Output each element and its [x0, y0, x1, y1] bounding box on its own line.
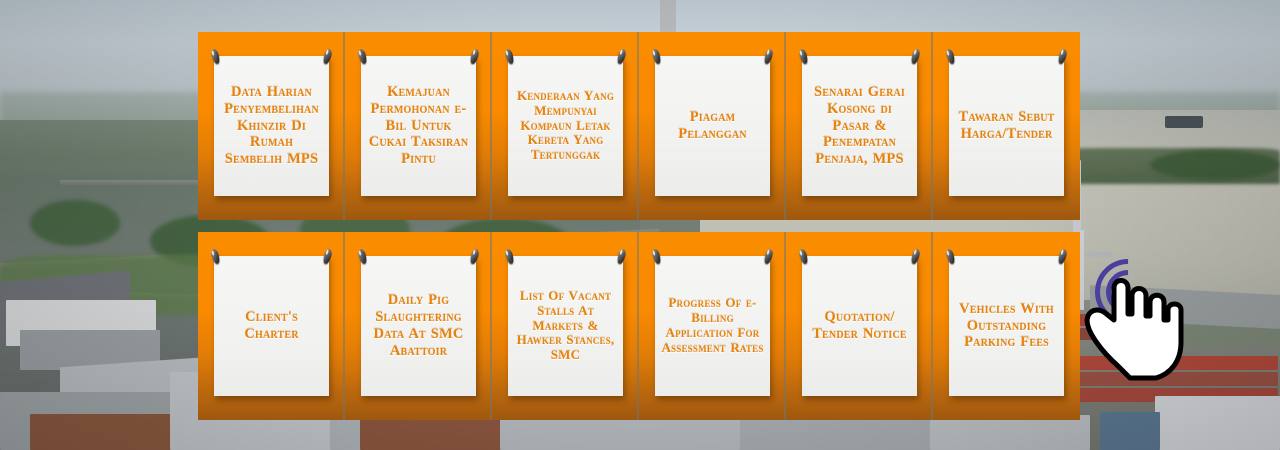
- building: [740, 420, 940, 450]
- pin-icon: [910, 48, 921, 64]
- tile-sheet: List Of Vacant Stalls At Markets & Hawke…: [508, 256, 623, 396]
- tile-progress-of-ebilling-application[interactable]: Progress Of e-Billing Application For As…: [639, 232, 786, 420]
- pin-icon: [322, 248, 333, 264]
- pin-icon: [504, 248, 515, 264]
- pin-icon: [210, 48, 221, 64]
- tree-cluster: [30, 200, 120, 246]
- tile-label: Tawaran Sebut Harga/Tender: [954, 109, 1059, 143]
- tile-row-2: Client's Charter Daily Pig Slaughtering …: [198, 232, 1080, 420]
- tile-label: Kemajuan Permohonan e-Bil Untuk Cukai Ta…: [366, 84, 471, 169]
- tile-data-harian-penyembelihan[interactable]: Data Harian Penyembelihan Khinzir Di Rum…: [198, 32, 345, 220]
- pin-icon: [469, 248, 480, 264]
- tile-sheet: Quotation/ Tender Notice: [802, 256, 917, 396]
- container-stack: [1080, 328, 1150, 340]
- tile-sheet: Data Harian Penyembelihan Khinzir Di Rum…: [214, 56, 329, 196]
- tile-sheet: Client's Charter: [214, 256, 329, 396]
- tile-daily-pig-slaughtering-data[interactable]: Daily Pig Slaughtering Data At SMC Abatt…: [345, 232, 492, 420]
- pin-icon: [357, 48, 368, 64]
- tile-vehicles-outstanding-parking-fees[interactable]: Vehicles With Outstanding Parking Fees: [933, 232, 1080, 420]
- tile-sheet: Daily Pig Slaughtering Data At SMC Abatt…: [361, 256, 476, 396]
- tile-sheet: Tawaran Sebut Harga/Tender: [949, 56, 1064, 196]
- pin-icon: [469, 48, 480, 64]
- pin-icon: [616, 248, 627, 264]
- building-roof: [30, 414, 180, 450]
- tile-tawaran-sebut-harga-tender[interactable]: Tawaran Sebut Harga/Tender: [933, 32, 1080, 220]
- tile-senarai-gerai-kosong[interactable]: Senarai Gerai Kosong di Pasar & Penempat…: [786, 32, 933, 220]
- tile-clients-charter[interactable]: Client's Charter: [198, 232, 345, 420]
- tile-label: Vehicles With Outstanding Parking Fees: [954, 301, 1059, 352]
- pin-icon: [322, 48, 333, 64]
- tile-quotation-tender-notice[interactable]: Quotation/ Tender Notice: [786, 232, 933, 420]
- tile-kemajuan-permohonan-ebil[interactable]: Kemajuan Permohonan e-Bil Untuk Cukai Ta…: [345, 32, 492, 220]
- pin-icon: [798, 248, 809, 264]
- pin-icon: [504, 48, 515, 64]
- tile-sheet: Progress Of e-Billing Application For As…: [655, 256, 770, 396]
- tile-label: List Of Vacant Stalls At Markets & Hawke…: [513, 289, 618, 363]
- tile-list-of-vacant-stalls[interactable]: List Of Vacant Stalls At Markets & Hawke…: [492, 232, 639, 420]
- container-stack: [1078, 356, 1278, 370]
- tile-label: Client's Charter: [219, 309, 324, 343]
- pin-icon: [651, 48, 662, 64]
- pin-icon: [798, 48, 809, 64]
- pin-icon: [763, 48, 774, 64]
- port-building: [1100, 412, 1160, 450]
- tile-grid: Data Harian Penyembelihan Khinzir Di Rum…: [198, 32, 1080, 420]
- tile-label: Quotation/ Tender Notice: [807, 309, 912, 343]
- pin-icon: [763, 248, 774, 264]
- barge: [1165, 116, 1203, 128]
- tile-sheet: Kemajuan Permohonan e-Bil Untuk Cukai Ta…: [361, 56, 476, 196]
- tile-label: Kenderaan Yang Mempunyai Kompaun Letak K…: [513, 89, 618, 163]
- pin-icon: [357, 248, 368, 264]
- tile-sheet: Senarai Gerai Kosong di Pasar & Penempat…: [802, 56, 917, 196]
- pin-icon: [1057, 248, 1068, 264]
- port-crane: [1085, 252, 1113, 257]
- tile-label: Data Harian Penyembelihan Khinzir Di Rum…: [219, 84, 324, 169]
- tile-kenderaan-kompaun-letak-kereta[interactable]: Kenderaan Yang Mempunyai Kompaun Letak K…: [492, 32, 639, 220]
- pin-icon: [1057, 48, 1068, 64]
- pin-icon: [945, 48, 956, 64]
- tile-row-1: Data Harian Penyembelihan Khinzir Di Rum…: [198, 32, 1080, 220]
- container-stack: [1078, 372, 1278, 386]
- tile-sheet: Kenderaan Yang Mempunyai Kompaun Letak K…: [508, 56, 623, 196]
- tile-piagam-pelanggan[interactable]: Piagam Pelanggan: [639, 32, 786, 220]
- tile-label: Piagam Pelanggan: [660, 109, 765, 143]
- port-building: [1155, 396, 1280, 450]
- pin-icon: [910, 248, 921, 264]
- pin-icon: [651, 248, 662, 264]
- tile-sheet: Vehicles With Outstanding Parking Fees: [949, 256, 1064, 396]
- tree-cluster: [1150, 150, 1280, 180]
- tile-label: Daily Pig Slaughtering Data At SMC Abatt…: [366, 292, 471, 360]
- pin-icon: [945, 248, 956, 264]
- building: [930, 415, 1090, 450]
- port-crane: [1080, 230, 1084, 310]
- pin-icon: [616, 48, 627, 64]
- tile-sheet: Piagam Pelanggan: [655, 56, 770, 196]
- tile-label: Senarai Gerai Kosong di Pasar & Penempat…: [807, 84, 912, 169]
- page-root: Data Harian Penyembelihan Khinzir Di Rum…: [0, 0, 1280, 450]
- tile-label: Progress Of e-Billing Application For As…: [660, 296, 765, 355]
- pin-icon: [210, 248, 221, 264]
- building-roof: [360, 418, 520, 450]
